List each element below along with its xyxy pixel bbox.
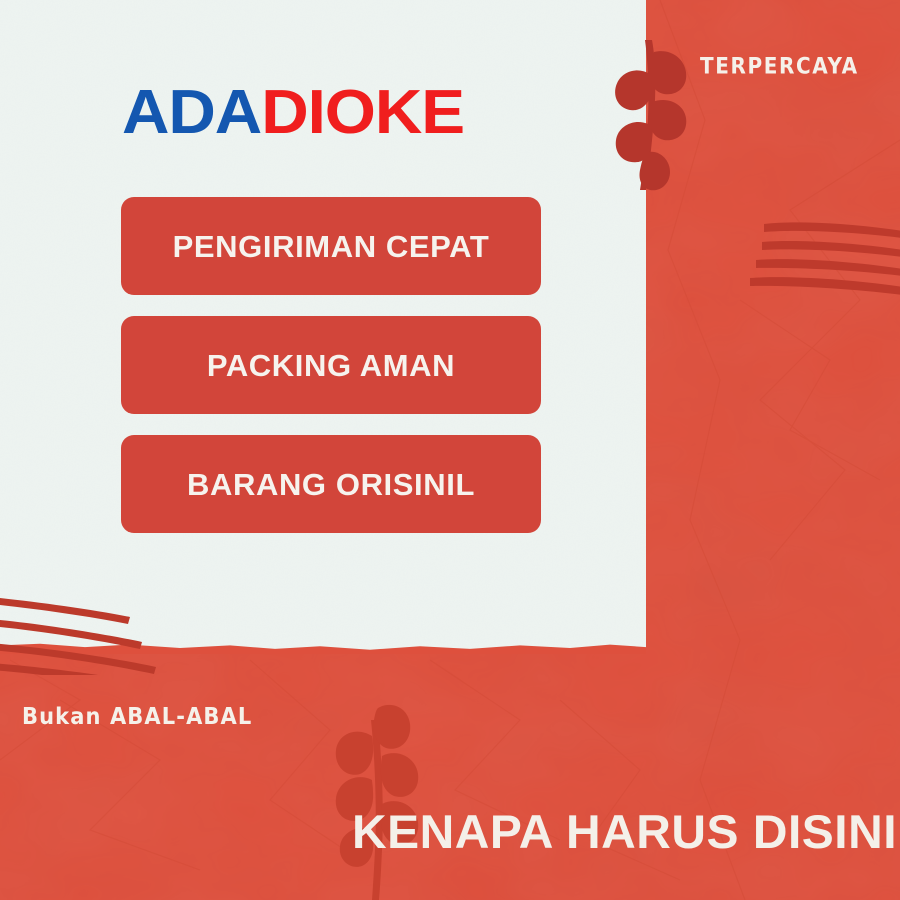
brand-logo-part-one: ADA: [122, 78, 261, 147]
brand-logo-part-two: DIOKE: [261, 78, 464, 147]
badge-terpercaya: TERPERCAYA: [700, 52, 859, 79]
brush-lines-right-icon: [740, 210, 900, 300]
feature-pill-pengiriman-cepat[interactable]: PENGIRIMAN CEPAT: [121, 197, 541, 295]
headline-text: KENAPA HARUS DISINI: [352, 808, 897, 855]
feature-pill-packing-aman[interactable]: PACKING AMAN: [121, 316, 541, 414]
feature-pill-label: PACKING AMAN: [207, 350, 455, 381]
feature-list: PENGIRIMAN CEPAT PACKING AMAN BARANG ORI…: [121, 197, 541, 554]
feature-pill-label: BARANG ORISINIL: [187, 469, 475, 500]
feature-pill-barang-orisinil[interactable]: BARANG ORISINIL: [121, 435, 541, 533]
brand-logo: ADADIOKE: [122, 82, 464, 144]
leaf-branch-bottom-center-icon: [312, 700, 442, 900]
poster-canvas: ADADIOKE PENGIRIMAN CEPAT PACKING AMAN B…: [0, 0, 900, 900]
feature-pill-label: PENGIRIMAN CEPAT: [173, 231, 490, 262]
badge-bukan-abal-abal: Bukan ABAL-ABAL: [22, 703, 252, 729]
